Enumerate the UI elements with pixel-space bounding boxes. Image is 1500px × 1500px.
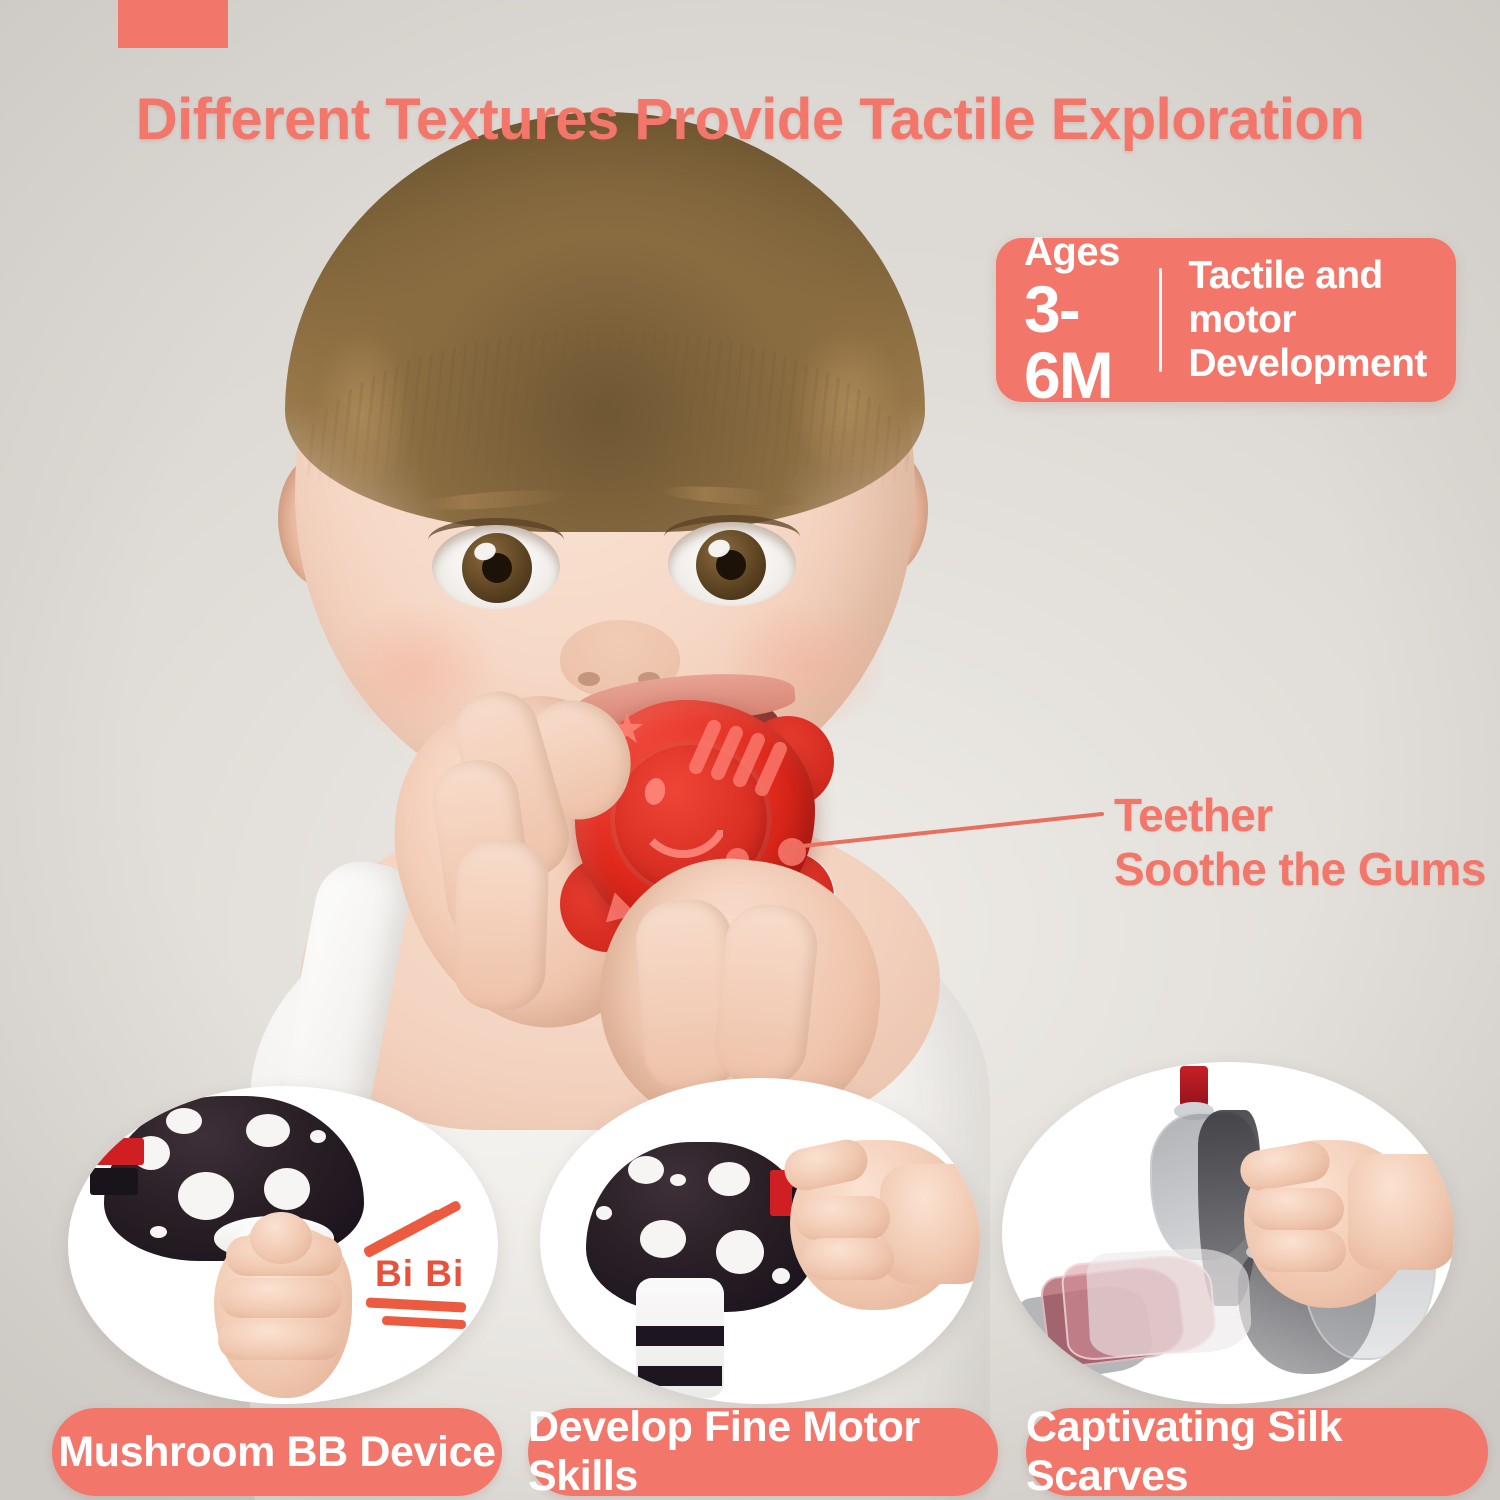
page-title: Different Textures Provide Tactile Explo… [0,86,1500,153]
mushroom-spot [264,1168,310,1210]
mushroom-spot [670,1174,686,1186]
feature-captions: Mushroom BB Device Develop Fine Motor Sk… [0,1408,1500,1500]
callout-title: Teether [1114,788,1486,842]
age-badge-left: Ages 3-6M [1024,232,1159,408]
hand-finger [802,1238,894,1280]
nostril-left [578,672,600,686]
hand-wrist [1348,1154,1454,1270]
mushroom-spot [166,1108,202,1134]
hand-finger [220,1278,342,1318]
age-badge-right: Tactile and motor Development [1162,254,1428,385]
hand-finger [1254,1230,1346,1272]
mushroom-spot [772,1268,790,1284]
mushroom-spot [628,1156,664,1184]
benefit-line-2: Development [1188,342,1428,386]
mushroom-stem-stripe [636,1326,724,1346]
baby-eye-left [432,525,560,609]
baby-eye-right [668,522,796,606]
mushroom-spot [716,1230,764,1274]
baby-iris-right [696,530,766,600]
benefit-line-1: Tactile and motor [1188,254,1428,341]
bi-bi-sound-label: Bi Bi [375,1253,464,1295]
age-range-value: 3-6M [1024,276,1133,408]
hand-thumb [250,1212,312,1264]
baby-finger-3 [452,838,550,1011]
mushroom-spot [708,1162,750,1196]
hand-finger [218,1320,342,1360]
mushroom-ribbon-black [90,1168,138,1195]
caption-silk-scarves: Captivating Silk Scarves [1026,1408,1488,1496]
mushroom-spot [246,1114,290,1147]
caption-mushroom-bb-device: Mushroom BB Device [52,1408,502,1496]
ages-label: Ages [1024,232,1133,272]
scarf-stack-white [1085,1246,1252,1358]
feature-oval-silk-scarves [1002,1062,1454,1404]
baby-iris-left [462,533,532,603]
mushroom-spot [596,1206,612,1220]
feature-oval-fine-motor [540,1078,980,1404]
mushroom-spot [310,1130,326,1143]
caption-fine-motor-skills: Develop Fine Motor Skills [528,1408,998,1496]
mushroom-spot [178,1172,234,1220]
hand-wrist [880,1164,980,1284]
callout-subtitle: Soothe the Gums [1114,842,1486,896]
badge-divider [1159,268,1162,372]
mushroom-spot [150,1226,167,1238]
teether-dot-5 [778,838,806,866]
mushroom-stem-stripe [638,1366,722,1386]
hand-finger [794,1196,890,1240]
teether-callout: Teether Soothe the Gums [1114,788,1486,897]
hand-finger [1248,1188,1344,1230]
mushroom-ribbon-red [94,1138,144,1165]
age-badge: Ages 3-6M Tactile and motor Development [996,238,1456,402]
accent-block [118,0,228,48]
mushroom-spot [640,1220,686,1258]
feature-oval-mushroom-bb [68,1086,498,1404]
